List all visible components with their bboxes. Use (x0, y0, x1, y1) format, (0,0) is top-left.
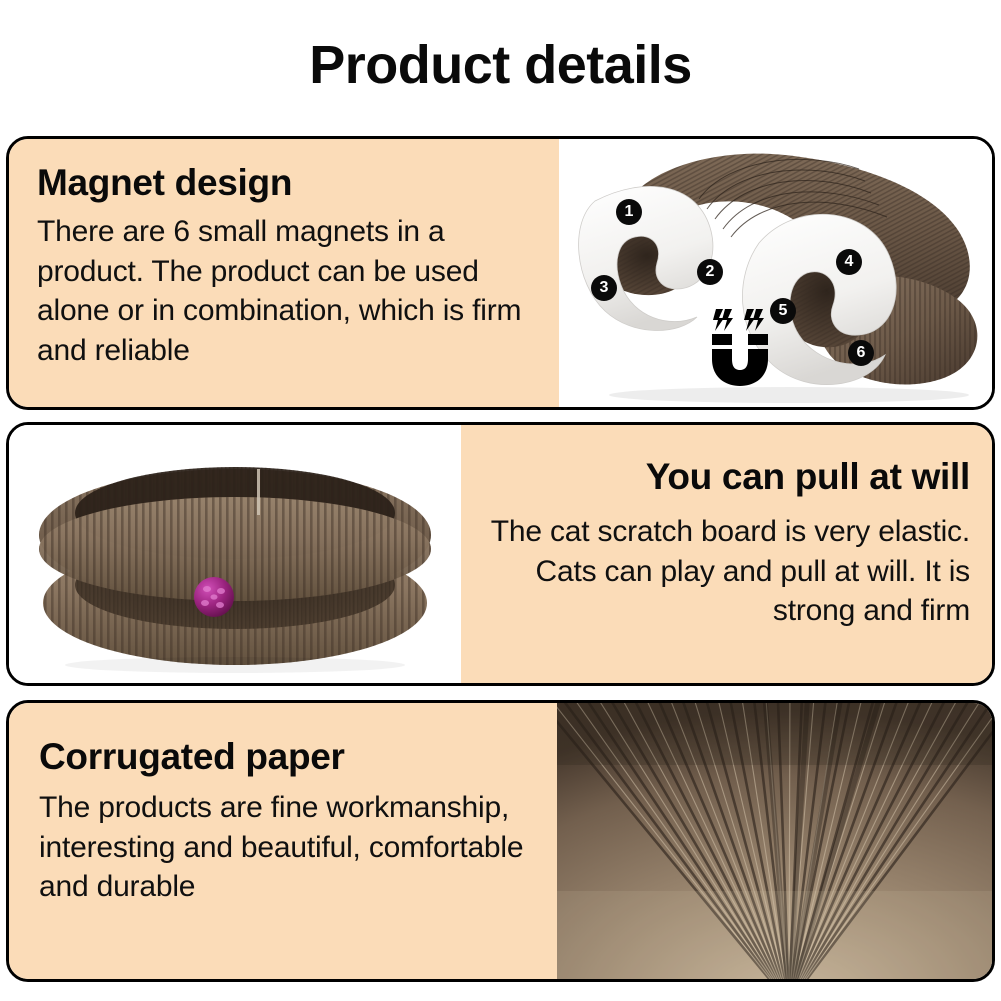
oval-accordion-scratcher-photo (9, 425, 461, 683)
product-details-infographic: Product details (0, 0, 1001, 1001)
panel-1-body: There are 6 small magnets in a product. … (37, 212, 537, 372)
panel-3-image-area (557, 703, 992, 979)
badge-2: 2 (697, 259, 723, 285)
oval-accordion-scratcher-illustration (9, 425, 461, 683)
badge-4: 4 (836, 249, 862, 275)
panel-1-title: Magnet design (37, 163, 537, 204)
panel-magnet-design: 1 2 3 4 5 6 (6, 136, 995, 410)
badge-6: 6 (848, 340, 874, 366)
panel-3-title: Corrugated paper (39, 737, 529, 778)
panel-2-text: You can pull at will The cat scratch boa… (450, 457, 970, 631)
corrugated-fan-illustration (557, 703, 992, 979)
upper-ring-scallops (39, 497, 431, 601)
panel-3-text: Corrugated paper The products are fine w… (39, 737, 529, 907)
panel-1-image-area: 1 2 3 4 5 6 (559, 139, 992, 407)
panel-3-body: The products are fine workmanship, inter… (39, 788, 529, 908)
ring-seam (257, 469, 260, 515)
spark-left (713, 309, 733, 331)
panel-2-title: You can pull at will (450, 457, 970, 498)
panel-corrugated-paper: Corrugated paper The products are fine w… (6, 700, 995, 982)
badge-3: 3 (591, 275, 617, 301)
panel-1-text: Magnet design There are 6 small magnets … (37, 163, 537, 371)
badge-1: 1 (616, 199, 642, 225)
page-title: Product details (0, 38, 1001, 92)
u-shaped-scratcher-illustration (559, 139, 992, 407)
magnet-icon (705, 307, 775, 387)
panel-pull-at-will: You can pull at will The cat scratch boa… (6, 422, 995, 686)
spark-right (744, 309, 764, 331)
corrugated-paper-photo (557, 703, 992, 979)
magnet-pole-right (748, 334, 768, 345)
magnet-body (712, 349, 768, 386)
panel-2-body: The cat scratch board is very elastic. C… (450, 512, 970, 632)
panel-2-image-area (9, 425, 461, 683)
magnet-pole-left (712, 334, 732, 345)
u-shaped-scratcher-photo: 1 2 3 4 5 6 (559, 139, 992, 407)
